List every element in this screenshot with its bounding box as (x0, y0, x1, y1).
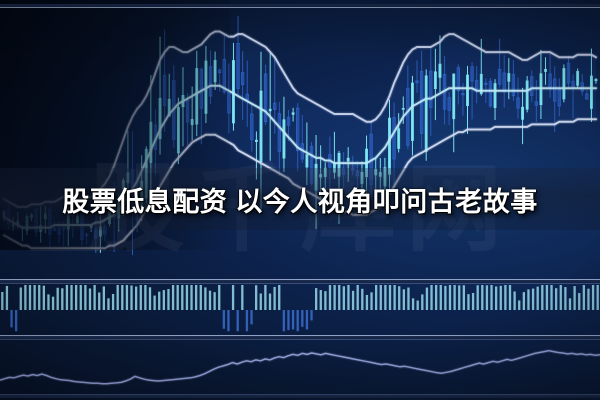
volume-panel (0, 284, 600, 336)
stock-chart-banner: 股千库网 股票低息配资 以今人视角叩问古老故事 (0, 0, 600, 400)
indicator-panel (0, 340, 600, 398)
price-panel (0, 0, 600, 280)
page-title: 股票低息配资 以今人视角叩问古老故事 (0, 168, 600, 230)
